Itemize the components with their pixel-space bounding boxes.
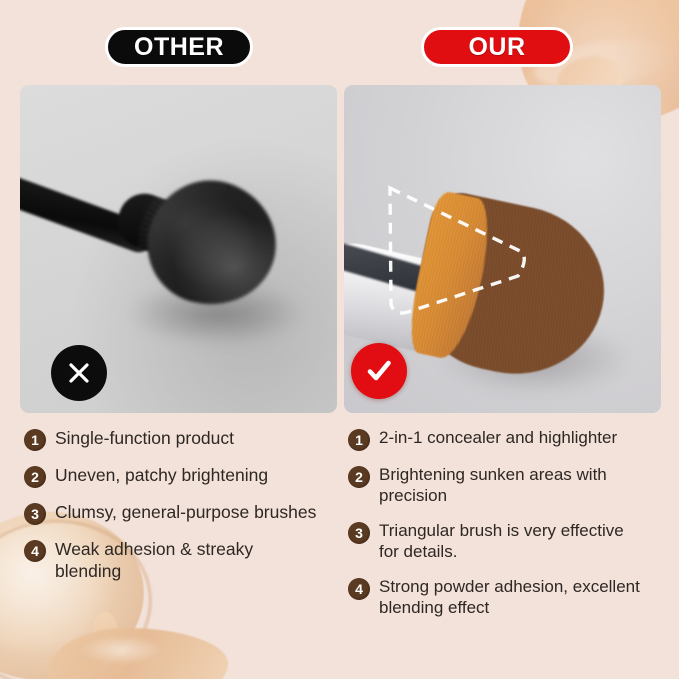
list-item: 3 Triangular brush is very effective for… xyxy=(348,520,648,563)
feature-list-our: 1 2-in-1 concealer and highlighter 2 Bri… xyxy=(348,427,648,631)
header-badge-our-label: OUR xyxy=(468,33,525,62)
list-item: 4 Strong powder adhesion, excellent blen… xyxy=(348,576,648,619)
header-badge-our: OUR xyxy=(421,27,573,67)
list-item-label: Single-function product xyxy=(55,427,234,449)
list-item: 3 Clumsy, general-purpose brushes xyxy=(24,501,324,525)
list-item-label: Clumsy, general-purpose brushes xyxy=(55,501,316,523)
list-item: 2 Brightening sunken areas with precisio… xyxy=(348,464,648,507)
list-item-number: 4 xyxy=(24,540,46,562)
list-item-number: 4 xyxy=(348,578,370,600)
list-item-number: 1 xyxy=(24,429,46,451)
list-item-label: Brightening sunken areas with precision xyxy=(379,464,648,507)
list-item-label: Triangular brush is very effective for d… xyxy=(379,520,648,563)
check-icon xyxy=(351,343,407,399)
list-item-label: 2-in-1 concealer and highlighter xyxy=(379,427,617,448)
header-badge-other-label: OTHER xyxy=(134,33,224,62)
list-item-label: Uneven, patchy brightening xyxy=(55,464,268,486)
list-item-number: 1 xyxy=(348,429,370,451)
list-item: 1 2-in-1 concealer and highlighter xyxy=(348,427,648,451)
list-item: 2 Uneven, patchy brightening xyxy=(24,464,324,488)
list-item: 1 Single-function product xyxy=(24,427,324,451)
list-item-label: Strong powder adhesion, excellent blendi… xyxy=(379,576,648,619)
comparison-infographic: OTHER OUR 1 xyxy=(0,0,679,679)
cross-icon xyxy=(51,345,107,401)
feature-list-other: 1 Single-function product 2 Uneven, patc… xyxy=(24,427,324,595)
list-item-number: 2 xyxy=(24,466,46,488)
list-item-number: 3 xyxy=(348,522,370,544)
list-item-label: Weak adhesion & streaky blending xyxy=(55,538,324,582)
list-item-number: 2 xyxy=(348,466,370,488)
header-badge-other: OTHER xyxy=(105,27,253,67)
list-item: 4 Weak adhesion & streaky blending xyxy=(24,538,324,582)
list-item-number: 3 xyxy=(24,503,46,525)
